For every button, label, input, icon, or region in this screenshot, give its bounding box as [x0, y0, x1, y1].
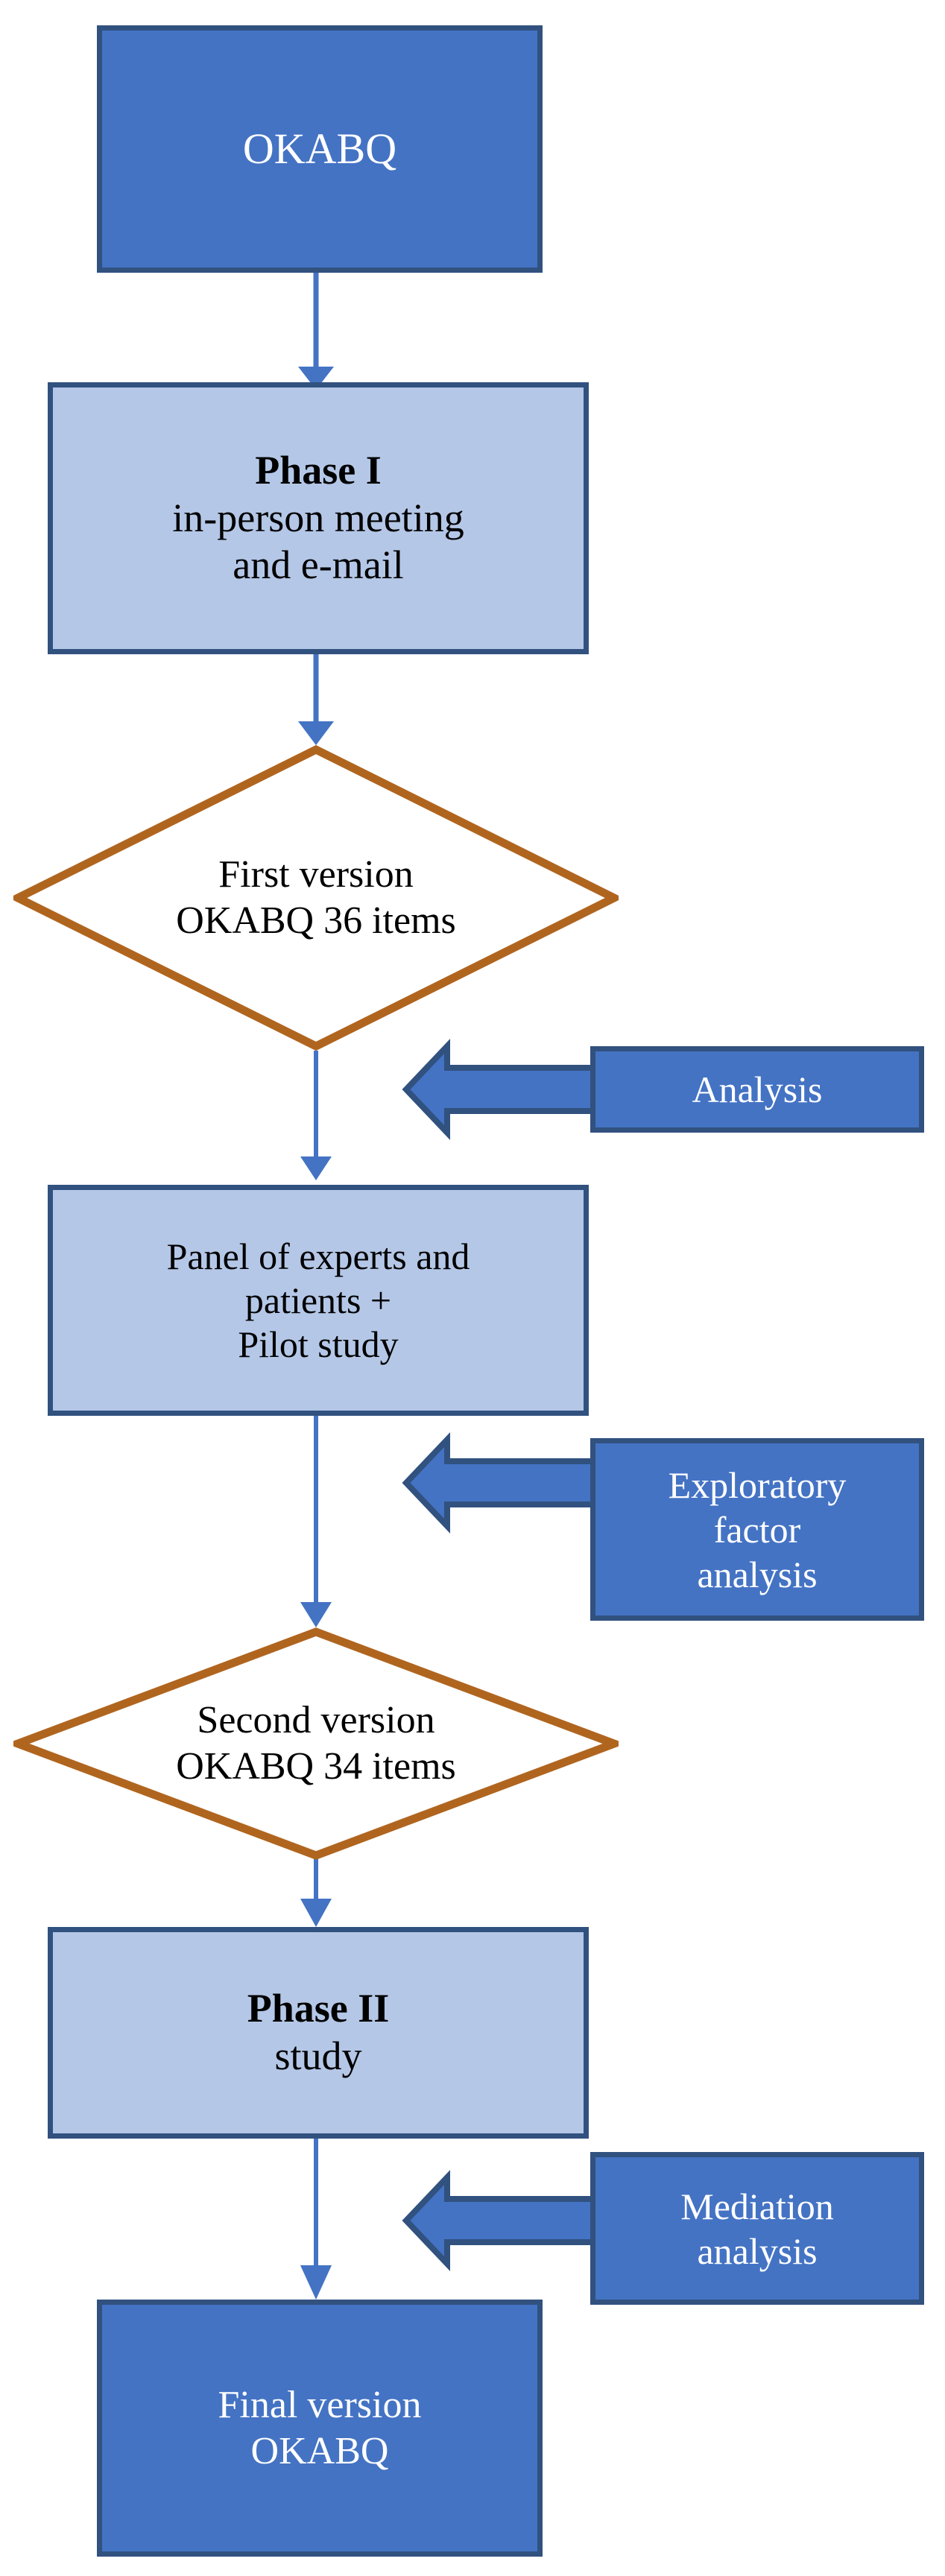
first-version-diamond-shape	[13, 745, 619, 1051]
node-panel-pilot[interactable]: Panel of experts and patients + Pilot st…	[48, 1185, 589, 1416]
node-phase-one[interactable]: Phase I in-person meeting and e-mail	[48, 382, 589, 654]
connector-start-to-phase-one	[298, 273, 334, 390]
callout-mediation-line2: analysis	[697, 2229, 817, 2273]
second-version-diamond-shape	[13, 1627, 619, 1860]
node-first-version-diamond[interactable]: First version OKABQ 36 items	[13, 745, 619, 1051]
node-final-okabq[interactable]: Final version OKABQ	[97, 2300, 543, 2557]
node-phase-one-line2: in-person meeting	[53, 495, 584, 542]
node-phase-two-line2: study	[53, 2033, 584, 2080]
node-phase-two[interactable]: Phase II study	[48, 1927, 589, 2139]
node-second-version-diamond[interactable]: Second version OKABQ 34 items	[13, 1627, 619, 1860]
connector-panel-to-second-version	[300, 1416, 332, 1627]
callout-mediation-analysis[interactable]: Mediation analysis	[590, 2152, 924, 2305]
callout-analysis-label: Analysis	[692, 1067, 823, 1112]
callout-exploratory-line3: analysis	[697, 1552, 817, 1597]
callout-exploratory-line2: factor	[714, 1507, 801, 1552]
arrow-shape-exploratory	[406, 1440, 596, 1526]
node-phase-one-line3: and e-mail	[53, 542, 584, 589]
arrow-shape-mediation	[406, 2177, 596, 2264]
node-panel-line3: Pilot study	[53, 1323, 584, 1367]
connector-phase-one-to-first-version	[298, 654, 334, 745]
callout-analysis[interactable]: Analysis	[590, 1046, 924, 1133]
arrow-shape-analysis	[406, 1046, 596, 1133]
node-final-line2: OKABQ	[102, 2428, 537, 2474]
node-panel-line1: Panel of experts and	[53, 1235, 584, 1279]
callout-mediation-line1: Mediation	[680, 2184, 834, 2229]
node-final-line1: Final version	[102, 2382, 537, 2428]
callout-exploratory-line1: Exploratory	[669, 1463, 847, 1507]
flowchart-canvas: OKABQ Phase I in-person meeting and e-ma…	[0, 0, 945, 2576]
connector-phase-two-to-final	[300, 2139, 332, 2300]
connector-first-version-to-panel	[300, 1051, 332, 1180]
callout-exploratory-factor-analysis[interactable]: Exploratory factor analysis	[590, 1438, 924, 1621]
node-panel-line2: patients +	[53, 1279, 584, 1323]
node-start-okabq[interactable]: OKABQ	[97, 25, 543, 273]
node-start-okabq-label: OKABQ	[102, 124, 537, 174]
node-phase-two-title: Phase II	[53, 1985, 584, 2033]
connector-second-version-to-phase-two	[300, 1858, 332, 1927]
node-phase-one-title: Phase I	[53, 447, 584, 495]
